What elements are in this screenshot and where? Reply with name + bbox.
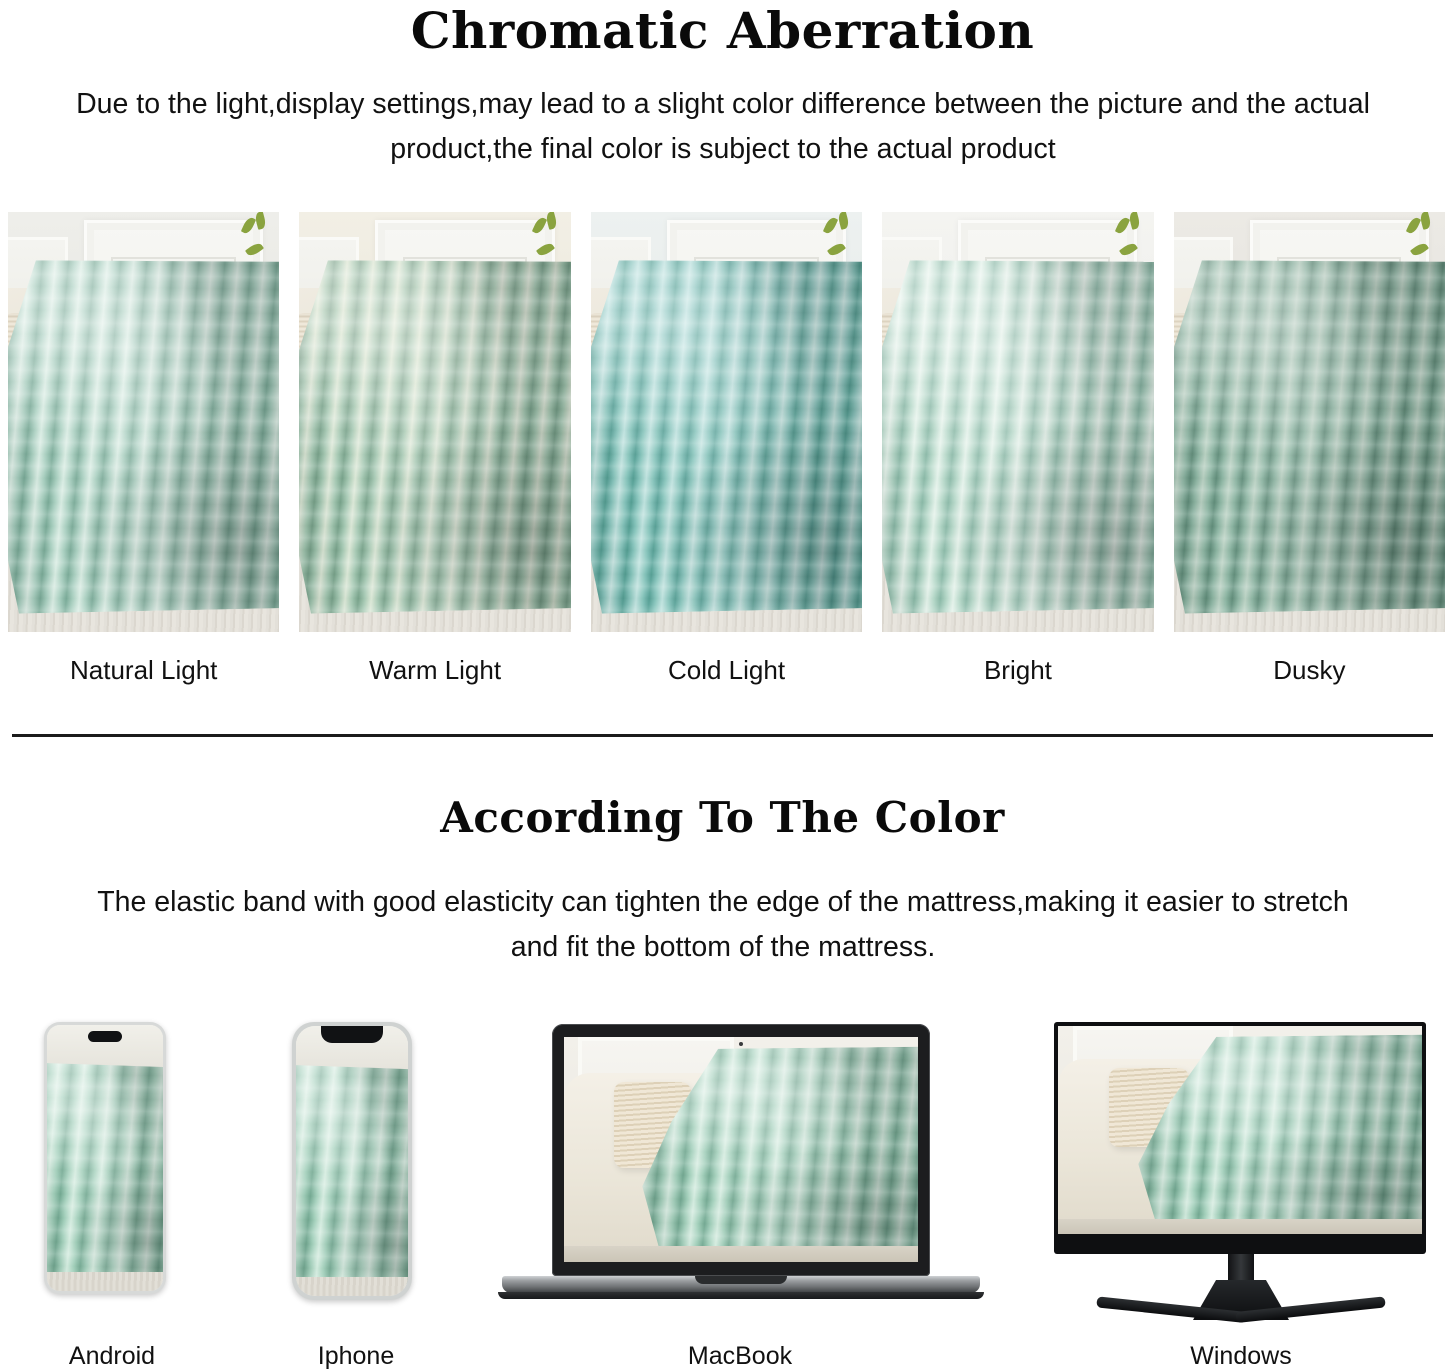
infographic-page: Chromatic Aberration Due to the light,di… bbox=[0, 0, 1445, 1372]
device-windows: Windows bbox=[1046, 1004, 1436, 1372]
photo-natural-light bbox=[8, 212, 279, 632]
photo-label-cold-light: Cold Light bbox=[591, 652, 862, 692]
monitor-neck bbox=[1228, 1254, 1254, 1282]
device-label-windows: Windows bbox=[1046, 1340, 1436, 1372]
color-comparison-photo-row bbox=[8, 212, 1445, 632]
device-label-iphone: Iphone bbox=[272, 1340, 440, 1372]
photo-label-row: Natural Light Warm Light Cold Light Brig… bbox=[8, 652, 1445, 692]
section-divider bbox=[12, 734, 1433, 737]
blanket-cold-light bbox=[591, 255, 862, 614]
photo-label-natural-light: Natural Light bbox=[8, 652, 279, 692]
macbook-base bbox=[502, 1276, 980, 1293]
macbook-screen bbox=[564, 1037, 918, 1262]
page-title-chromatic-aberration: Chromatic Aberration bbox=[0, 2, 1445, 60]
subtitle-according-to-the-color: The elastic band with good elasticity ca… bbox=[78, 880, 1368, 970]
photo-label-warm-light: Warm Light bbox=[299, 652, 570, 692]
macbook-trackpad-notch-icon bbox=[695, 1276, 787, 1284]
photo-cold-light bbox=[591, 212, 862, 632]
device-label-macbook: MacBook bbox=[498, 1340, 982, 1372]
monitor-feet bbox=[1096, 1312, 1386, 1330]
room-scene bbox=[8, 212, 279, 632]
photo-bright bbox=[882, 212, 1153, 632]
macbook-icon bbox=[552, 1024, 930, 1276]
blanket-preview-android bbox=[47, 1061, 163, 1281]
photo-label-bright: Bright bbox=[882, 652, 1153, 692]
room-scene bbox=[1174, 212, 1445, 632]
macbook-camera-icon bbox=[739, 1042, 743, 1046]
macbook-foot bbox=[498, 1292, 984, 1299]
windows-monitor-icon bbox=[1054, 1022, 1426, 1254]
photo-warm-light bbox=[299, 212, 570, 632]
device-android: Android bbox=[22, 1004, 202, 1372]
photo-dusky bbox=[1174, 212, 1445, 632]
blanket-preview-iphone bbox=[296, 1063, 408, 1287]
windows-monitor-screen bbox=[1058, 1026, 1422, 1234]
device-macbook: MacBook bbox=[498, 1004, 982, 1372]
page-title-according-to-the-color: According To The Color bbox=[0, 793, 1445, 843]
blanket-dusky bbox=[1174, 255, 1445, 614]
subtitle-chromatic-aberration: Due to the light,display settings,may le… bbox=[58, 82, 1388, 172]
iphone-screen bbox=[296, 1026, 408, 1296]
android-camera-cutout-icon bbox=[88, 1031, 122, 1042]
room-scene bbox=[591, 212, 862, 632]
android-screen bbox=[47, 1025, 163, 1291]
device-iphone: Iphone bbox=[272, 1004, 440, 1372]
blanket-bright bbox=[882, 255, 1153, 614]
blanket-natural-light bbox=[8, 255, 279, 614]
android-phone-icon bbox=[44, 1022, 166, 1294]
iphone-notch-icon bbox=[321, 1026, 383, 1043]
room-scene bbox=[882, 212, 1153, 632]
device-label-android: Android bbox=[22, 1340, 202, 1372]
iphone-icon bbox=[292, 1022, 412, 1300]
device-comparison-row: Android Iphone bbox=[0, 1004, 1445, 1372]
photo-label-dusky: Dusky bbox=[1174, 652, 1445, 692]
room-scene bbox=[299, 212, 570, 632]
blanket-warm-light bbox=[299, 255, 570, 614]
